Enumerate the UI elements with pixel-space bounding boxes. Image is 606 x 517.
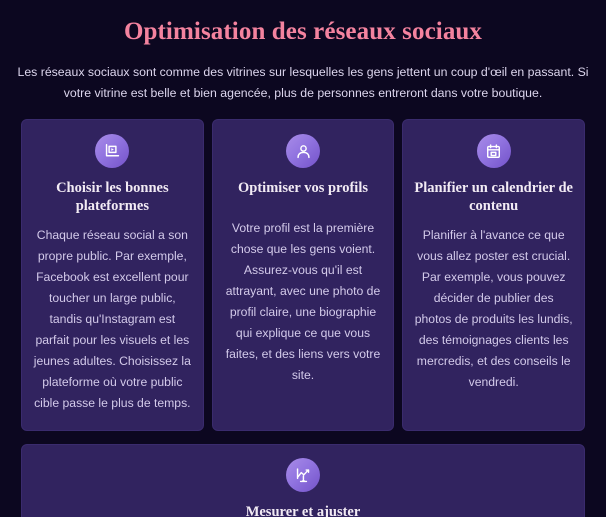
card-title: Optimiser vos profils [224,179,383,197]
card-body: Chaque réseau social a son propre public… [33,225,192,414]
card-body: Planifier à l'avance ce que vous allez p… [414,225,573,393]
card-calendrier-contenu[interactable]: Planifier un calendrier de contenu Plani… [402,119,585,431]
cards-row: Choisir les bonnes plateformes Chaque ré… [0,119,606,431]
card-body: Votre profil est la première chose que l… [224,218,383,386]
card-title: Mesurer et ajuster [38,503,568,517]
card-optimiser-profils[interactable]: Optimiser vos profils Votre profil est l… [212,119,395,431]
card-title: Choisir les bonnes plateformes [33,179,192,215]
user-profile-icon [286,134,320,168]
card-title: Planifier un calendrier de contenu [414,179,573,215]
calendar-icon [477,134,511,168]
intro-paragraph: Les réseaux sociaux sont comme des vitri… [0,47,606,104]
card-mesurer-ajuster[interactable]: Mesurer et ajuster Utilisez les statisti… [21,444,585,517]
card-choisir-plateformes[interactable]: Choisir les bonnes plateformes Chaque ré… [21,119,204,431]
presentation-chart-icon [95,134,129,168]
page-root: Optimisation des réseaux sociaux Les rés… [0,0,606,517]
page-title: Optimisation des réseaux sociaux [0,0,606,47]
analytics-chart-icon [286,458,320,492]
